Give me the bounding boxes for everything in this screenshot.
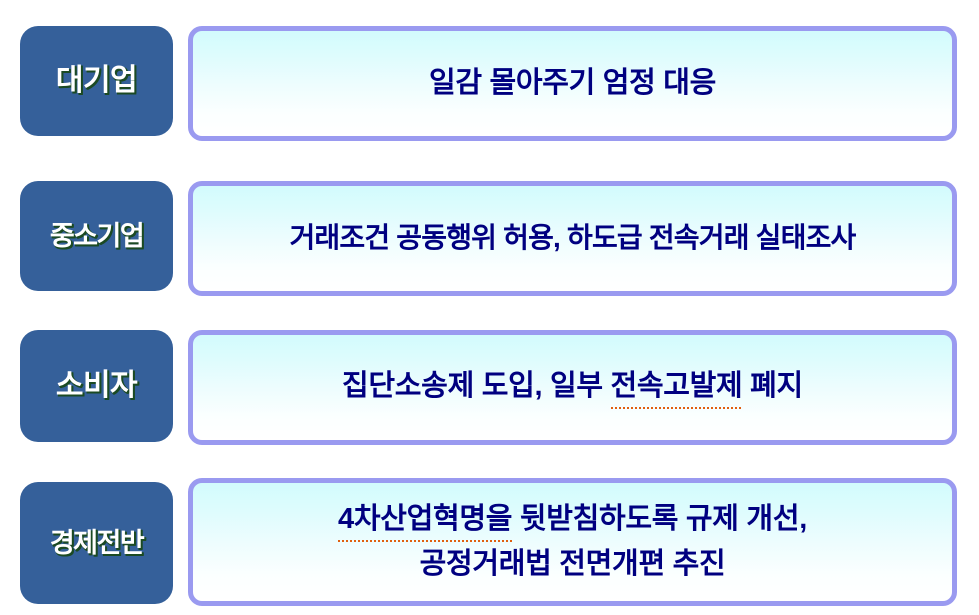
row-label-text-1: 대기업 xyxy=(56,66,137,96)
content-segment-misspelled: 4차산업혁명을 xyxy=(338,498,512,544)
row-label-chip-4[interactable]: 경제전반 xyxy=(20,482,173,604)
row-content-panel-2[interactable]: 거래조건 공동행위 허용, 하도급 전속거래 실태조사 xyxy=(188,181,957,296)
table-row: 경제전반 4차산업혁명을 뒷받침하도록 규제 개선,공정거래법 전면개편 추진 xyxy=(0,478,979,606)
table-row: 중소기업 거래조건 공동행위 허용, 하도급 전속거래 실태조사 xyxy=(0,181,979,295)
row-label-chip-3[interactable]: 소비자 xyxy=(20,330,173,442)
table-row: 대기업 일감 몰아주기 엄정 대응 xyxy=(0,26,979,140)
row-content-panel-4[interactable]: 4차산업혁명을 뒷받침하도록 규제 개선,공정거래법 전면개편 추진 xyxy=(188,478,957,606)
row-content-panel-1[interactable]: 일감 몰아주기 엄정 대응 xyxy=(188,26,957,141)
row-label-chip-1[interactable]: 대기업 xyxy=(20,26,173,136)
policy-summary-board: 대기업 일감 몰아주기 엄정 대응 중소기업 거래조건 공동행위 허용, 하도급… xyxy=(0,0,979,615)
content-segment-misspelled: 전속고발제 xyxy=(611,365,743,409)
row-label-text-2: 중소기업 xyxy=(50,223,143,250)
row-label-chip-2[interactable]: 중소기업 xyxy=(20,181,173,291)
content-segment-plain: 뒷받침하도록 규제 개선, xyxy=(512,503,807,535)
content-segment-plain: 집단소송제 도입, 일부 xyxy=(342,370,610,402)
row-content-text-4: 4차산업혁명을 뒷받침하도록 규제 개선,공정거래법 전면개편 추진 xyxy=(332,498,813,587)
row-content-text-1: 일감 몰아주기 엄정 대응 xyxy=(423,62,722,104)
row-label-text-4: 경제전반 xyxy=(50,530,143,557)
row-content-text-2: 거래조건 공동행위 허용, 하도급 전속거래 실태조사 xyxy=(283,218,861,259)
content-line-2: 공정거래법 전면개편 추진 xyxy=(338,543,807,587)
row-content-panel-3[interactable]: 집단소송제 도입, 일부 전속고발제 폐지 xyxy=(188,330,957,445)
row-content-text-3: 집단소송제 도입, 일부 전속고발제 폐지 xyxy=(336,365,809,409)
table-row: 소비자 집단소송제 도입, 일부 전속고발제 폐지 xyxy=(0,330,979,444)
row-label-text-3: 소비자 xyxy=(56,371,137,401)
content-segment-plain-2: 폐지 xyxy=(742,370,803,402)
